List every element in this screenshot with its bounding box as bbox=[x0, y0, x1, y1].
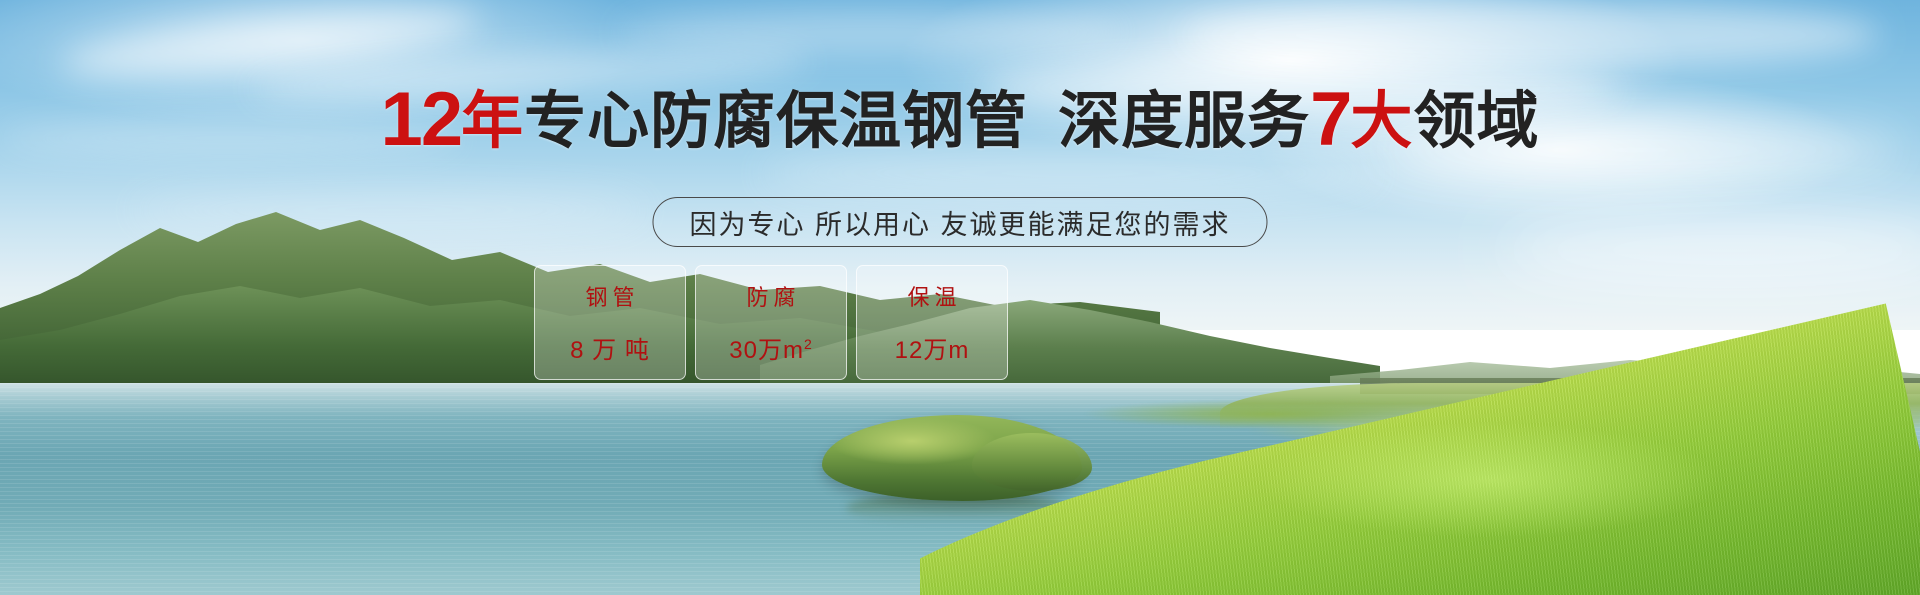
subtitle-text: 因为专心 所以用心 友诚更能满足您的需求 bbox=[689, 203, 1230, 242]
grass-highlight bbox=[1180, 405, 1800, 555]
subtitle-pill: 因为专心 所以用心 友诚更能满足您的需求 bbox=[652, 197, 1267, 247]
stat-card-value: 12万m bbox=[895, 330, 970, 365]
stat-card-title: 防腐 bbox=[741, 280, 800, 312]
stat-card-value: 30万m2 bbox=[729, 330, 812, 365]
stat-card-title: 钢管 bbox=[580, 280, 639, 312]
stat-card-steel-pipe[interactable]: 钢管 8 万 吨 bbox=[534, 265, 686, 380]
stat-card-value-superscript: 2 bbox=[804, 336, 813, 352]
stat-card-title: 保温 bbox=[902, 280, 961, 312]
stat-card-anticorrosion[interactable]: 防腐 30万m2 bbox=[695, 265, 847, 380]
foreground-grass bbox=[920, 295, 1920, 595]
cloud-icon bbox=[620, 10, 1120, 54]
headline: 12年专心防腐保温钢管深度服务7大领域 bbox=[0, 82, 1920, 158]
headline-years-number: 12 bbox=[381, 77, 462, 162]
hero-banner: 12年专心防腐保温钢管深度服务7大领域 因为专心 所以用心 友诚更能满足您的需求… bbox=[0, 0, 1920, 595]
headline-service-text: 深度服务 bbox=[1058, 87, 1310, 156]
cloud-icon bbox=[1180, 0, 1880, 70]
headline-fields-word: 大 bbox=[1350, 87, 1413, 156]
stat-card-group: 钢管 8 万 吨 防腐 30万m2 保温 12万m bbox=[534, 265, 1008, 380]
stat-card-insulation[interactable]: 保温 12万m bbox=[856, 265, 1008, 380]
stat-card-value: 8 万 吨 bbox=[570, 330, 650, 365]
headline-years-unit: 年 bbox=[461, 87, 524, 156]
headline-main-text: 专心防腐保温钢管 bbox=[524, 87, 1028, 156]
headline-fields-suffix: 领域 bbox=[1413, 87, 1539, 156]
headline-fields-number: 7 bbox=[1310, 77, 1350, 162]
